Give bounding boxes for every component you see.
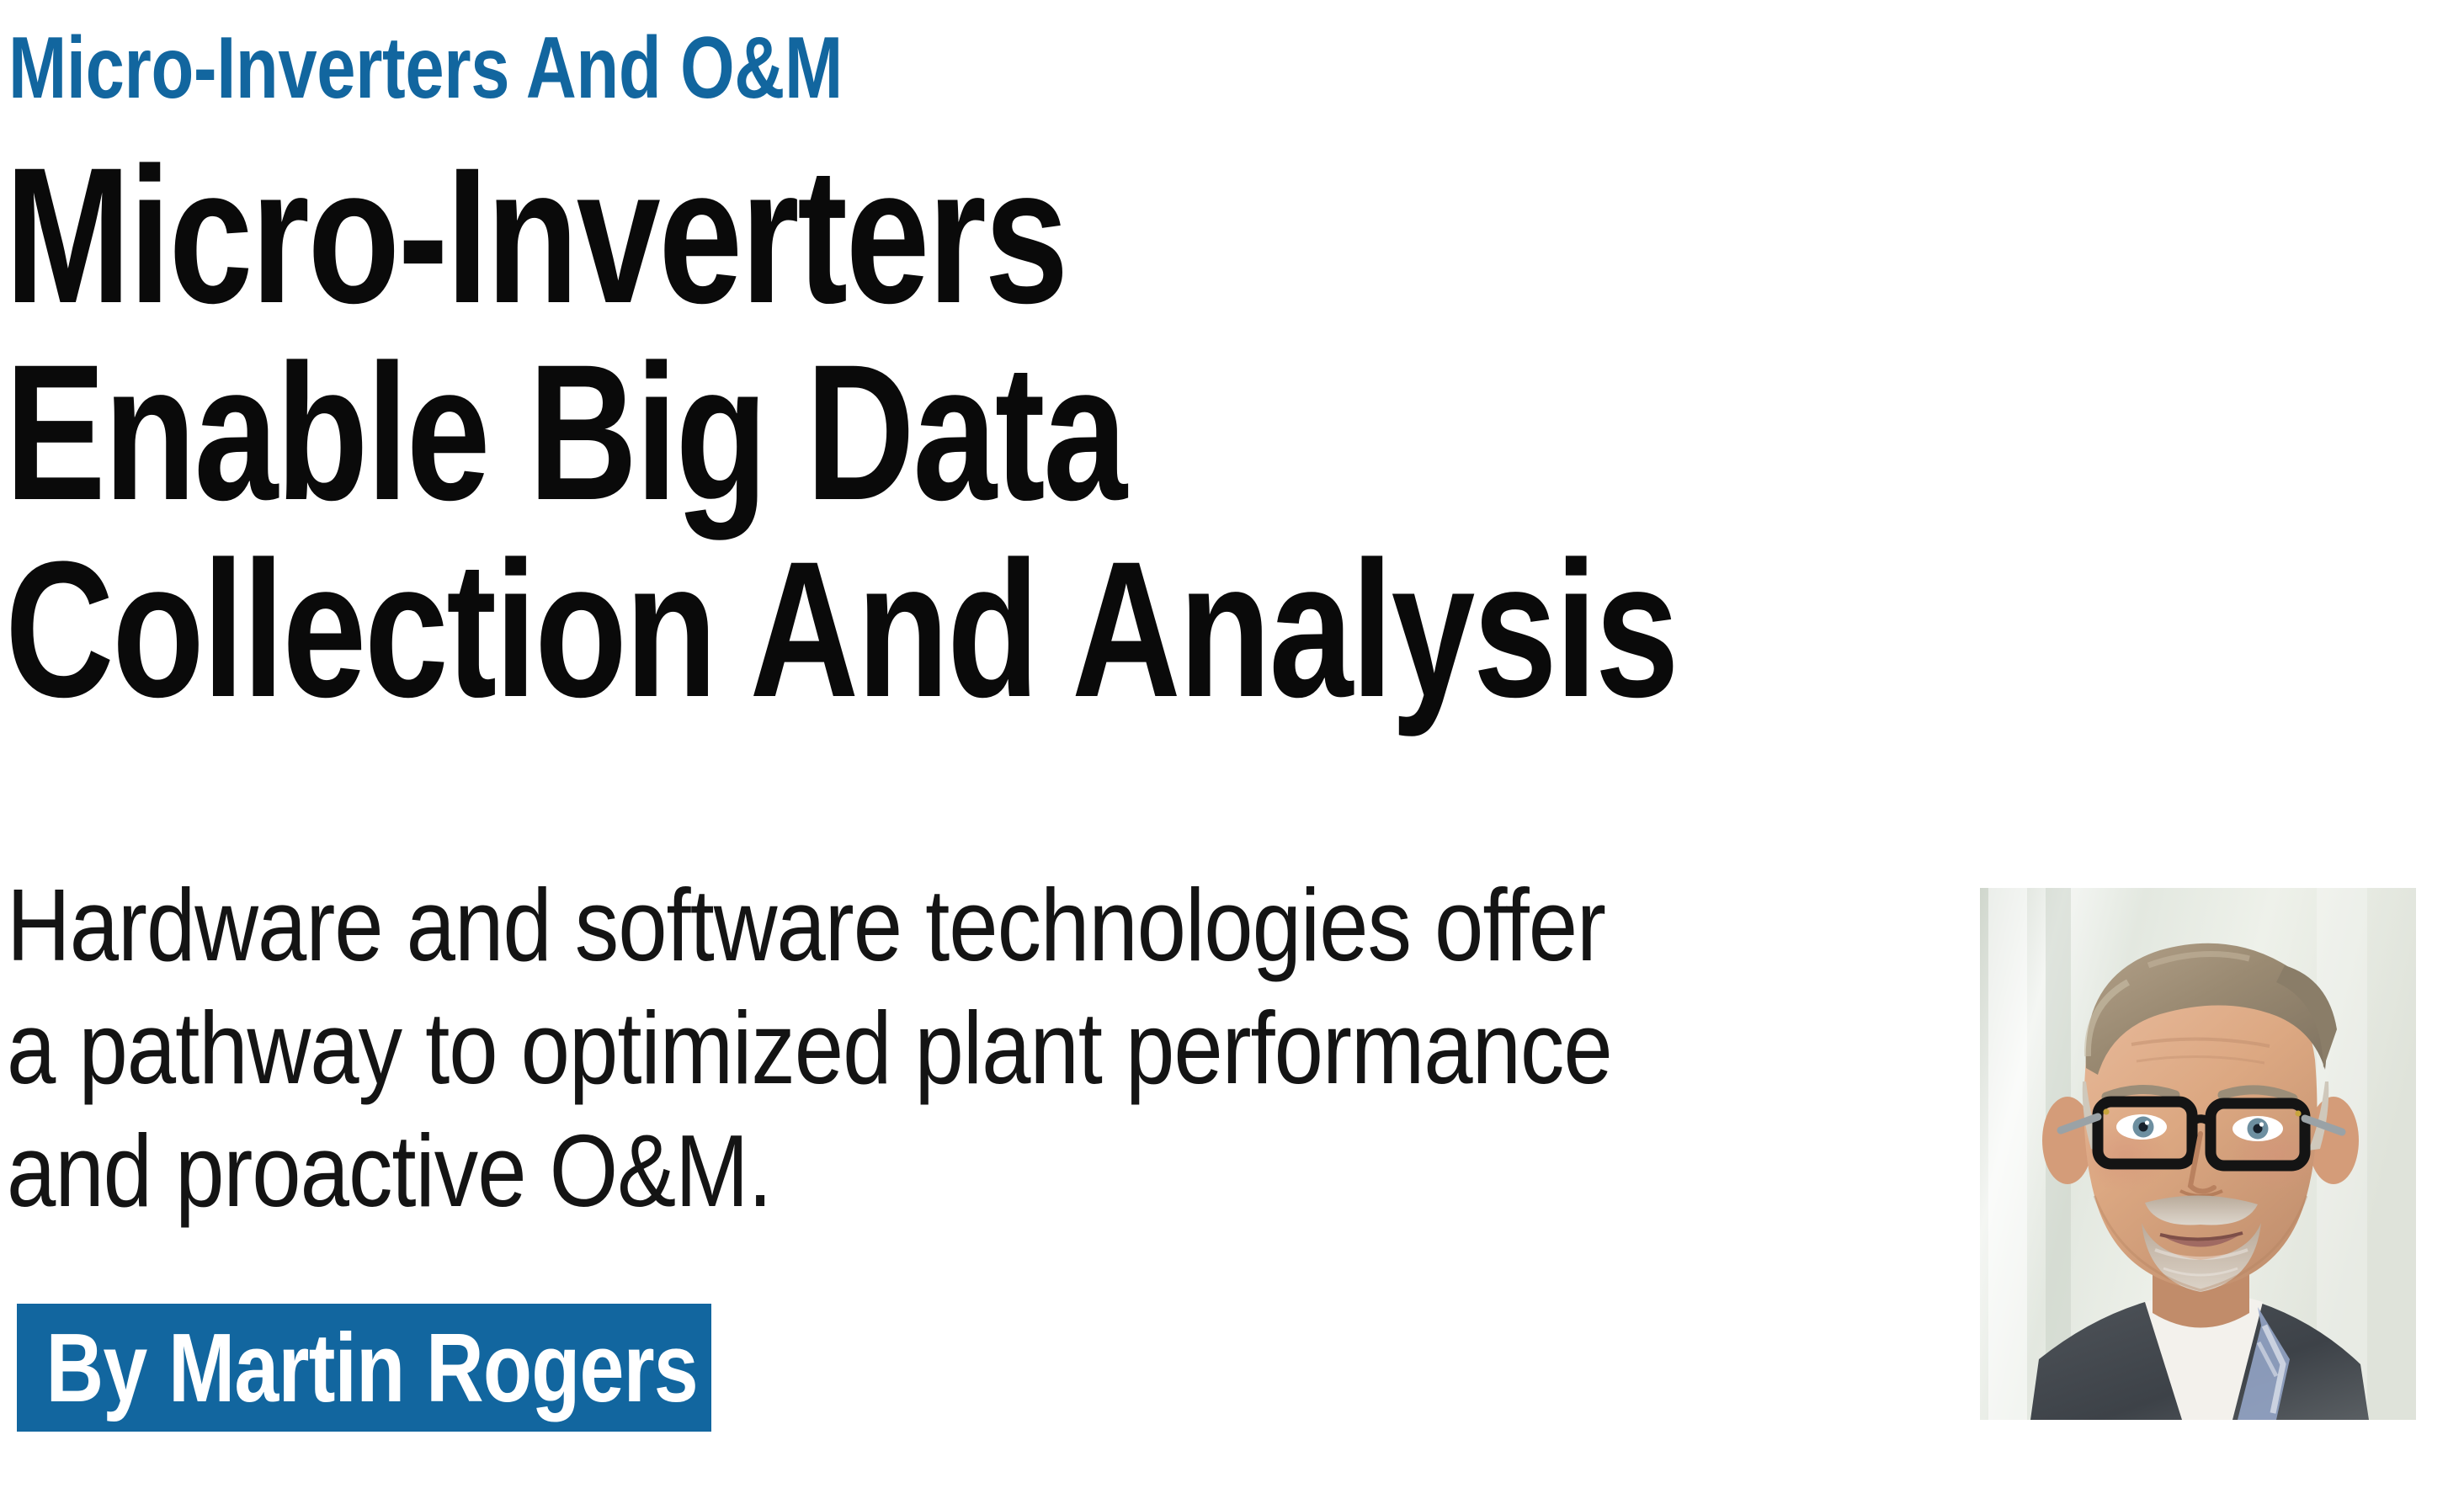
author-portrait-photo — [1980, 888, 2416, 1420]
article-opener-page: Micro-Inverters And O&M Micro-Inverters … — [0, 0, 2464, 1504]
article-deck: Hardware and software technologies offer… — [7, 875, 1901, 1220]
headline-line-3: Collection And Analysis — [5, 550, 1515, 709]
headline-line-2: Enable Big Data — [5, 353, 1515, 513]
deck-line-1: Hardware and software technologies offer — [7, 875, 1636, 975]
deck-line-2: a pathway to optimized plant performance — [7, 998, 1636, 1097]
kicker-label: Micro-Inverters And O&M — [8, 20, 843, 116]
author-headshot-illustration — [1980, 888, 2416, 1420]
byline-author-name: By Martin Rogers — [17, 1319, 698, 1416]
page-title: Micro-Inverters Enable Big Data Collecti… — [5, 156, 1941, 709]
headline-line-1: Micro-Inverters — [5, 156, 1515, 316]
byline-badge: By Martin Rogers — [17, 1304, 711, 1432]
deck-line-3: and proactive O&M. — [7, 1121, 1636, 1220]
